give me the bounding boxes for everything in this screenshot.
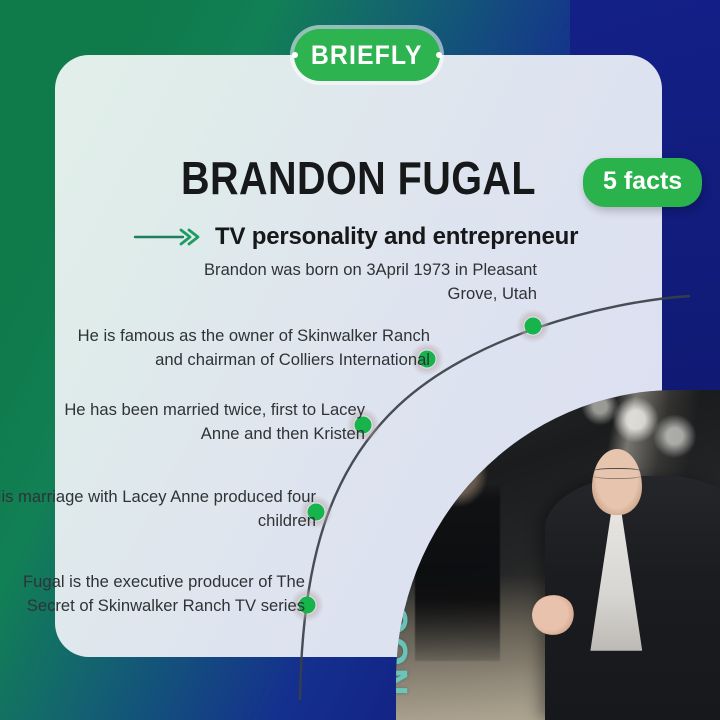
photo-subject-glasses	[590, 468, 643, 479]
fact-item: He is famous as the owner of Skinwalker …	[70, 324, 430, 372]
badge-dot-left-icon	[292, 52, 298, 58]
page-title: BRANDON FUGAL	[97, 151, 619, 205]
poster-background: BRANDON FUGAL TV personality and entrepr…	[0, 0, 720, 720]
badge-dot-right-icon	[436, 52, 442, 58]
subject-photo: SAFEMOON uite 250	[396, 390, 720, 720]
photo-reflected-figure	[415, 456, 499, 661]
fact-item: He has been married twice, first to Lace…	[35, 398, 365, 446]
subtitle-row: TV personality and entrepreneur	[133, 223, 578, 251]
briefly-logo-badge[interactable]: BRIEFLY	[294, 29, 440, 81]
arrow-right-chevrons-icon	[133, 228, 203, 246]
facts-count-badge[interactable]: 5 facts	[583, 158, 702, 207]
fact-item: Fugal is the executive producer of The S…	[5, 570, 305, 618]
page-subtitle: TV personality and entrepreneur	[215, 223, 578, 251]
fact-item: His marriage with Lacey Anne produced fo…	[0, 485, 316, 533]
suite-signage-text: uite 250	[396, 498, 402, 515]
briefly-logo-label: BRIEFLY	[311, 40, 423, 71]
fact-item: Brandon was born on 3April 1973 in Pleas…	[177, 258, 537, 306]
photo-subject-head	[592, 449, 642, 515]
